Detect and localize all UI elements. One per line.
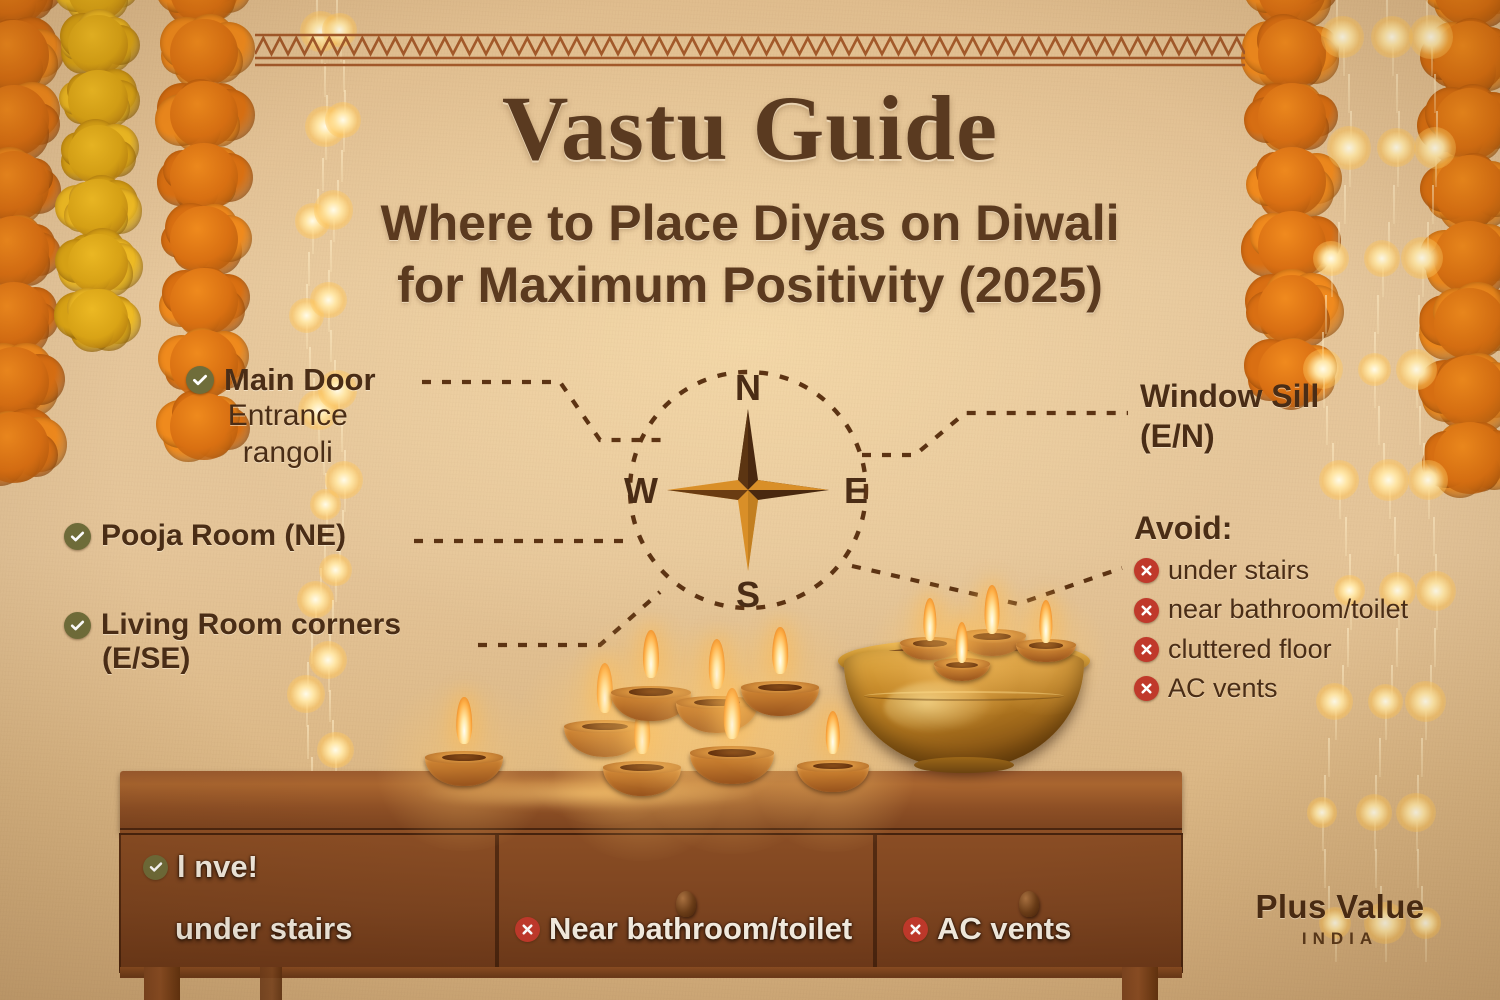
page-title: Vastu Guide bbox=[0, 82, 1500, 174]
fairy-light-bulb bbox=[1409, 15, 1453, 59]
subtitle-line-1: Where to Place Diyas on Diwali bbox=[0, 192, 1500, 254]
label-main-door-sub2: rangoli bbox=[186, 435, 376, 472]
fairy-light-bulb bbox=[319, 554, 352, 587]
avoid-item: cluttered floor bbox=[1134, 630, 1408, 669]
drawer-right[interactable]: AC vents bbox=[875, 833, 1183, 973]
label-living-room-heading-row: Living Room corners bbox=[64, 608, 401, 642]
drawer-right-label: AC vents bbox=[937, 911, 1071, 947]
label-living-room-sub: (E/SE) bbox=[64, 642, 401, 676]
avoid-item-label: near bathroom/toilet bbox=[1168, 590, 1408, 629]
compass-label-east: E bbox=[844, 470, 868, 511]
ornamental-border bbox=[255, 32, 1245, 72]
fairy-light-bulb bbox=[1356, 794, 1393, 831]
fairy-light-bulb bbox=[1396, 793, 1435, 832]
brass-urli-bowl bbox=[838, 617, 1090, 775]
avoid-item-label: AC vents bbox=[1168, 669, 1278, 708]
avoid-item: under stairs bbox=[1134, 551, 1408, 590]
infographic-poster: Vastu Guide Where to Place Diyas on Diwa… bbox=[0, 0, 1500, 1000]
cross-icon bbox=[1134, 558, 1159, 583]
table-leg bbox=[1122, 967, 1158, 1000]
fairy-light-bulb bbox=[1358, 353, 1391, 386]
floating-diya bbox=[934, 657, 990, 681]
check-icon bbox=[64, 523, 91, 550]
drawer-right-row: AC vents bbox=[903, 911, 1071, 947]
label-pooja-room-title: Pooja Room (NE) bbox=[101, 519, 346, 553]
cross-icon bbox=[1134, 676, 1159, 701]
fairy-light-wire bbox=[1379, 738, 1381, 777]
check-icon bbox=[186, 366, 214, 394]
label-main-door-title: Main Door bbox=[224, 362, 376, 398]
label-living-room: Living Room corners (E/SE) bbox=[64, 608, 401, 676]
drawer-middle-row: Near bathroom/toilet bbox=[515, 911, 852, 947]
drawer-left-line1-row: l nve! bbox=[143, 849, 258, 885]
drawer-middle-label: Near bathroom/toilet bbox=[549, 911, 852, 947]
check-icon bbox=[143, 855, 168, 880]
check-icon bbox=[64, 612, 91, 639]
label-pooja-room: Pooja Room (NE) bbox=[64, 519, 346, 553]
compass-label-north: N bbox=[735, 367, 761, 408]
label-window-sill-line1: Window Sill bbox=[1140, 376, 1319, 416]
cross-icon bbox=[1134, 598, 1159, 623]
compass-label-south: S bbox=[736, 574, 760, 615]
drawer-left-line1: l nve! bbox=[177, 849, 258, 885]
brand-name: Plus Value bbox=[1240, 888, 1440, 926]
fairy-light-wire bbox=[1433, 517, 1435, 556]
brand-logo: Plus Value INDIA bbox=[1240, 888, 1440, 949]
brand-region: INDIA bbox=[1240, 929, 1440, 949]
fairy-light-bulb bbox=[1321, 16, 1363, 58]
subtitle-line-2: for Maximum Positivity (2025) bbox=[0, 254, 1500, 316]
avoid-heading: Avoid: bbox=[1134, 510, 1408, 547]
fairy-light-wire bbox=[1328, 738, 1330, 777]
fairy-light-bulb bbox=[1371, 16, 1413, 58]
compass-rose: N E S W bbox=[613, 363, 883, 618]
table-leg bbox=[144, 967, 180, 1000]
fairy-light-wire bbox=[1326, 406, 1328, 445]
fairy-light-wire bbox=[1417, 849, 1419, 888]
fairy-light-wire bbox=[1434, 628, 1436, 667]
fairy-light-wire bbox=[1324, 849, 1326, 888]
label-window-sill-line2: (E/N) bbox=[1140, 416, 1319, 456]
fairy-light-bulb bbox=[1368, 459, 1409, 500]
avoid-list: under stairs near bathroom/toilet clutte… bbox=[1134, 551, 1408, 709]
drawer-left-line2: under stairs bbox=[175, 911, 352, 947]
fairy-light-bulb bbox=[1396, 349, 1437, 390]
fairy-light-bulb bbox=[1307, 797, 1338, 828]
fairy-light-wire bbox=[1419, 406, 1421, 445]
cross-icon bbox=[515, 917, 540, 942]
compass-star bbox=[667, 409, 829, 571]
table-leg bbox=[260, 967, 282, 1000]
fairy-light-wire bbox=[1375, 849, 1377, 888]
label-window-sill: Window Sill (E/N) bbox=[1140, 376, 1319, 457]
compass-label-west: W bbox=[624, 470, 658, 511]
fairy-light-wire bbox=[1378, 406, 1380, 445]
table-legs bbox=[120, 967, 1182, 1000]
page-subtitle: Where to Place Diyas on Diwali for Maxim… bbox=[0, 192, 1500, 316]
fairy-light-bulb bbox=[287, 675, 325, 713]
floating-diya bbox=[1016, 637, 1076, 662]
label-living-room-title: Living Room corners bbox=[101, 608, 401, 642]
avoid-item: near bathroom/toilet bbox=[1134, 590, 1408, 629]
fairy-light-bulb bbox=[317, 732, 353, 768]
fairy-light-wire bbox=[329, 690, 331, 722]
fairy-light-wire bbox=[307, 725, 309, 759]
fairy-light-bulb bbox=[1319, 460, 1360, 501]
link-window-sill bbox=[862, 413, 1128, 455]
avoid-item-label: under stairs bbox=[1168, 551, 1309, 590]
drawer-left[interactable]: l nve! under stairs bbox=[119, 833, 497, 973]
fairy-light-bulb bbox=[1405, 681, 1446, 722]
cross-icon bbox=[903, 917, 928, 942]
cross-icon bbox=[1134, 637, 1159, 662]
avoid-item: AC vents bbox=[1134, 669, 1408, 708]
label-pooja-room-heading-row: Pooja Room (NE) bbox=[64, 519, 346, 553]
fairy-light-wire bbox=[330, 330, 332, 362]
fairy-light-wire bbox=[1421, 738, 1423, 777]
label-avoid-group: Avoid: under stairs near bathroom/toilet… bbox=[1134, 510, 1408, 709]
fairy-light-bulb bbox=[1408, 460, 1448, 500]
label-main-door: Main Door Entrance rangoli bbox=[186, 362, 376, 471]
drawer-middle[interactable]: Near bathroom/toilet bbox=[497, 833, 875, 973]
label-main-door-sub1: Entrance bbox=[186, 398, 376, 435]
avoid-item-label: cluttered floor bbox=[1168, 630, 1332, 669]
fairy-light-bulb bbox=[1416, 571, 1456, 611]
diya-lamp bbox=[425, 738, 503, 786]
label-main-door-heading-row: Main Door bbox=[186, 362, 376, 398]
